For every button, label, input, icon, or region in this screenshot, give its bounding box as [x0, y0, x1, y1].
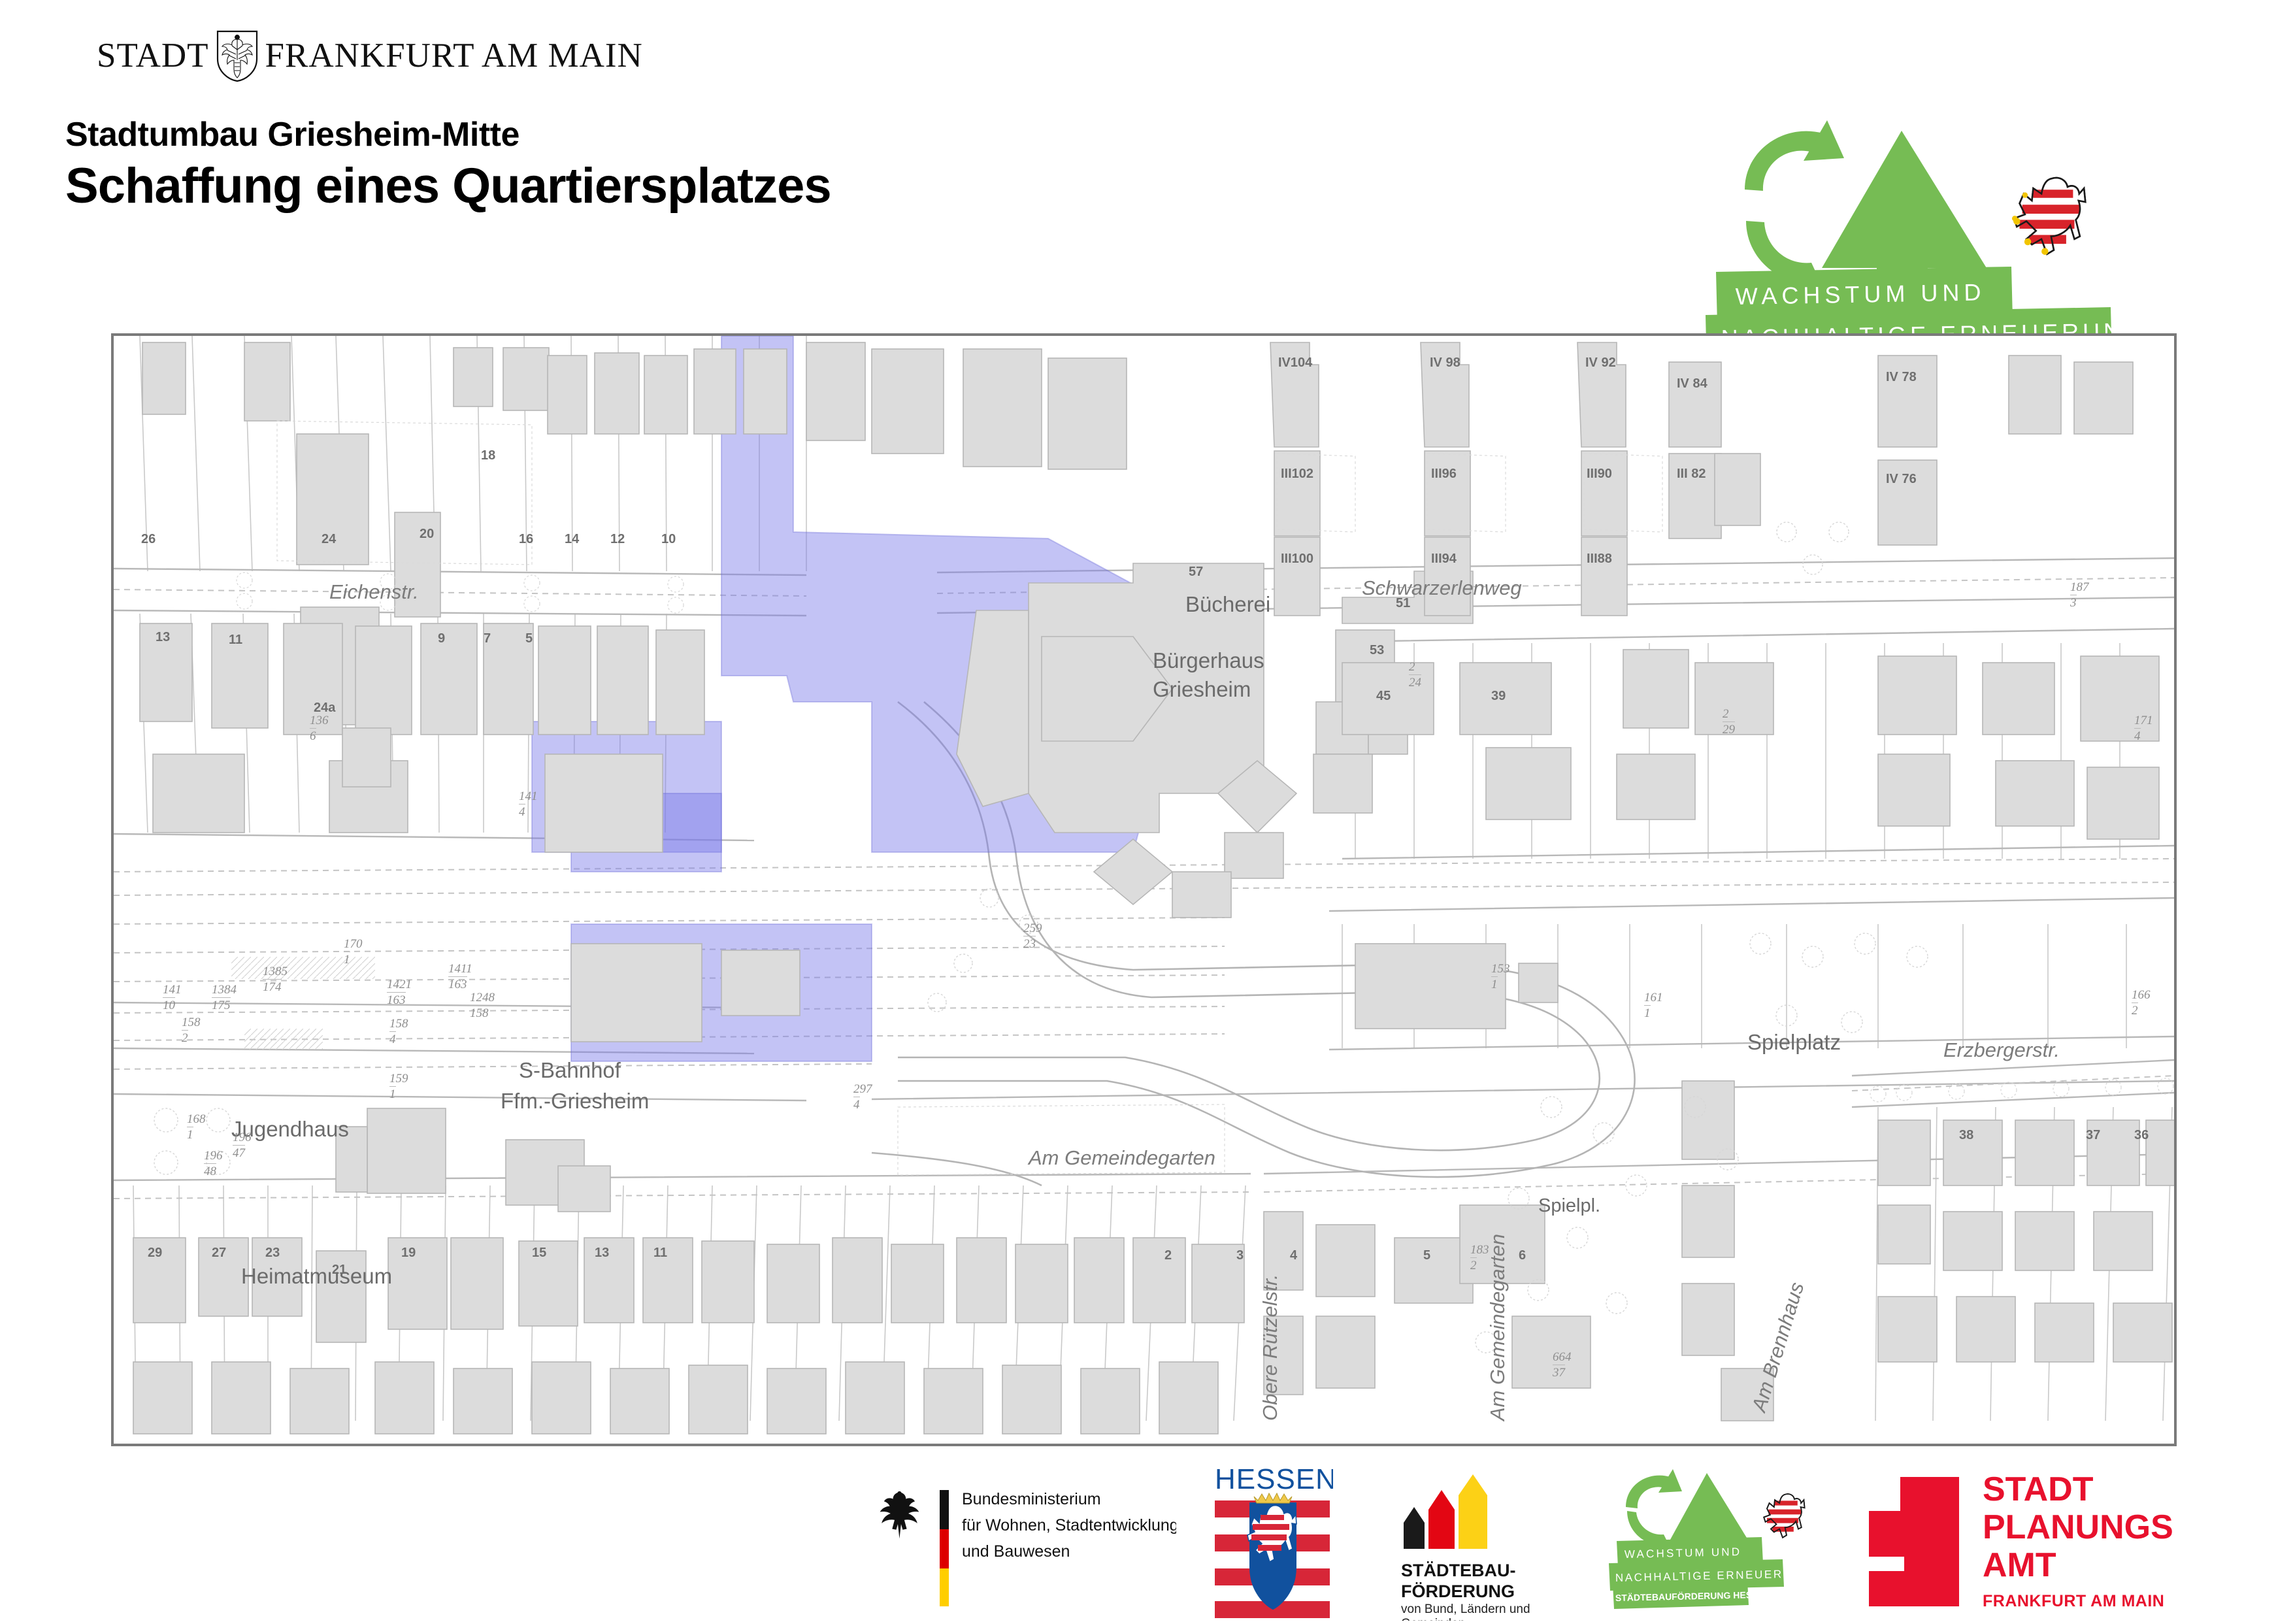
- parcel-denominator: 37: [1553, 1365, 1565, 1380]
- parcel-numerator: 297: [853, 1082, 872, 1096]
- hessen-wordmark: HESSEN: [1215, 1464, 1333, 1495]
- parcel-number: 297 4: [853, 1082, 872, 1112]
- parcel-numerator: 153: [1491, 962, 1510, 976]
- house-number: III102: [1281, 467, 1313, 482]
- parcel-number: 1385 174: [263, 965, 288, 995]
- parcel-numerator: 168: [187, 1112, 206, 1126]
- parcel-number: 1384 175: [212, 983, 237, 1013]
- bmwsb-line2: für Wohnen, Stadtentwicklung: [962, 1516, 1176, 1534]
- wachstum-footer-line1: WACHSTUM UND: [1625, 1546, 1742, 1561]
- parcel-denominator: 175: [212, 997, 231, 1013]
- house-number: 13: [595, 1246, 609, 1261]
- house-number: 16: [519, 532, 533, 547]
- house-number: IV104: [1278, 356, 1312, 371]
- house-number: III 82: [1677, 467, 1706, 482]
- parcel-numerator: 158: [389, 1017, 408, 1031]
- parcel-numerator: 1385: [263, 965, 288, 978]
- parcel-numerator: 170: [344, 937, 363, 951]
- hessen-shield-icon: [1247, 1493, 1296, 1609]
- parcel-number: 168 1: [187, 1112, 206, 1142]
- parcel-number: 170 1: [344, 937, 363, 967]
- parcel-denominator: 163: [387, 992, 406, 1008]
- bundesadler-icon: [880, 1491, 919, 1539]
- house-number: 24: [322, 532, 336, 547]
- cadastral-map[interactable]: Eichenstr. Schwarzerlenweg Erzbergerstr.…: [111, 333, 2177, 1446]
- house-number: 2: [1164, 1248, 1172, 1263]
- staedtebau-line2: FÖRDERUNG: [1401, 1582, 1515, 1601]
- german-flag-bar-icon: [940, 1490, 949, 1606]
- house-number: 21: [332, 1263, 346, 1278]
- staedtebaufoerderung-logo: STÄDTEBAU- FÖRDERUNG von Bund, Ländern u…: [1392, 1464, 1555, 1621]
- house-number: 23: [265, 1246, 280, 1261]
- house-number: 18: [481, 448, 495, 463]
- house-number: IV 78: [1886, 370, 1917, 385]
- project-subtitle: Stadtumbau Griesheim-Mitte: [65, 116, 831, 154]
- parcel-numerator: 141: [163, 983, 182, 997]
- house-number: 11: [229, 633, 242, 648]
- bmwsb-line1: Bundesministerium: [962, 1490, 1101, 1508]
- house-number: III96: [1431, 467, 1457, 482]
- parcel-denominator: 1: [344, 952, 350, 967]
- parcel-numerator: 166: [2132, 988, 2151, 1002]
- parcel-denominator: 47: [233, 1145, 245, 1161]
- parcel-denominator: 1: [1491, 976, 1498, 992]
- title-block: Stadtumbau Griesheim-Mitte Schaffung ein…: [65, 116, 831, 215]
- three-houses-icon: [1404, 1474, 1487, 1549]
- parcel-numerator: 1248: [470, 991, 495, 1004]
- parcel-denominator: 24: [1409, 674, 1421, 690]
- parcel-denominator: 174: [263, 979, 282, 995]
- parcel-number: 166 2: [2132, 988, 2151, 1018]
- house-number: 13: [156, 630, 170, 645]
- house-number: 29: [148, 1246, 162, 1261]
- house-number: IV 98: [1430, 356, 1460, 371]
- house-number: III88: [1587, 552, 1612, 567]
- spa-line3: AMT: [1983, 1546, 2056, 1584]
- parcel-denominator: 4: [853, 1097, 860, 1112]
- parcel-number: 153 1: [1491, 962, 1510, 992]
- hessen-lion-icon: [1764, 1494, 1804, 1538]
- house-number: 4: [1290, 1248, 1297, 1263]
- stadtplanungsamt-logo: STADT PLANUNGS AMT FRANKFURT AM MAIN: [1849, 1464, 2176, 1621]
- frankfurt-eagle-crest-icon: [216, 30, 259, 82]
- page-footer: Bundesministerium für Wohnen, Stadtentwi…: [0, 1464, 2293, 1621]
- parcel-denominator: 2: [1470, 1257, 1477, 1273]
- house-number: 20: [420, 527, 434, 542]
- map-vector-layer: [114, 336, 2174, 1444]
- house-number: 19: [401, 1246, 416, 1261]
- parcel-number: 141 10: [163, 983, 182, 1013]
- parcel-number: 158 4: [389, 1017, 408, 1047]
- house-number: 3: [1236, 1248, 1244, 1263]
- parcel-denominator: 29: [1723, 721, 1735, 737]
- parcel-numerator: 183: [1470, 1243, 1489, 1257]
- house-number: III100: [1281, 552, 1313, 567]
- parcel-number: 161 1: [1644, 991, 1663, 1021]
- house-number: 10: [661, 532, 676, 547]
- parcel-numerator: 161: [1644, 991, 1663, 1004]
- parcel-denominator: 1: [389, 1086, 396, 1102]
- city-logo-word-frankfurt: FRANKFURT AM MAIN: [265, 39, 643, 73]
- parcel-number: 2 29: [1723, 707, 1735, 737]
- parcel-numerator: 259: [1023, 921, 1042, 935]
- parcel-denominator: 4: [2134, 728, 2141, 744]
- house-number: 27: [212, 1246, 226, 1261]
- staedtebau-sub1: von Bund, Ländern und: [1401, 1602, 1530, 1616]
- parcel-number: 158 2: [182, 1016, 201, 1046]
- parcel-number: 183 2: [1470, 1243, 1489, 1273]
- page-title: Schaffung eines Quartiersplatzes: [65, 157, 831, 214]
- parcel-denominator: 48: [204, 1163, 216, 1179]
- parcel-numerator: 1384: [212, 983, 237, 997]
- house-number: 12: [610, 532, 625, 547]
- parcel-number: 141 4: [519, 789, 538, 820]
- house-number: IV 76: [1886, 472, 1917, 487]
- house-number: 15: [532, 1246, 546, 1261]
- house-number: 26: [141, 532, 156, 547]
- parcel-number: 171 4: [2134, 714, 2153, 744]
- house-number: 9: [438, 631, 445, 646]
- parcel-denominator: 23: [1023, 936, 1036, 952]
- city-logo-word-stadt: STADT: [97, 39, 209, 73]
- parcel-numerator: 664: [1553, 1350, 1572, 1364]
- parcel-numerator: 171: [2134, 714, 2153, 727]
- hessen-lion-icon: [2012, 178, 2085, 255]
- city-of-frankfurt-logo: STADT FRANKFURT AM MAIN: [97, 31, 515, 80]
- parcel-numerator: 159: [389, 1072, 408, 1085]
- house-number: 6: [1519, 1248, 1526, 1263]
- parcel-numerator: 2: [1409, 660, 1415, 674]
- house-number: IV 92: [1585, 356, 1616, 371]
- spa-line2: PLANUNGS: [1983, 1508, 2173, 1546]
- parcel-denominator: 6: [310, 728, 316, 744]
- parcel-number: 187 3: [2070, 580, 2089, 610]
- parcel-number: 196 48: [204, 1149, 223, 1179]
- staedtebau-line1: STÄDTEBAU-: [1401, 1561, 1516, 1580]
- parcel-number: 159 1: [389, 1072, 408, 1102]
- parcel-numerator: 187: [2070, 580, 2089, 594]
- parcel-number: 1421 163: [387, 978, 412, 1008]
- parcel-denominator: 10: [163, 997, 175, 1013]
- page-header: STADT FRANKFURT AM MAIN Stadtumbau Gries…: [0, 0, 2293, 327]
- hessen-state-logo: HESSEN: [1212, 1464, 1333, 1621]
- parcel-denominator: 163: [448, 976, 467, 992]
- parcel-number: 664 37: [1553, 1350, 1572, 1380]
- parcel-number: 1248 158: [470, 991, 495, 1021]
- parcel-denominator: 2: [2132, 1003, 2138, 1018]
- parcel-denominator: 2: [182, 1030, 188, 1046]
- parcel-denominator: 1: [1644, 1005, 1651, 1021]
- parcel-numerator: 1411: [448, 962, 472, 976]
- parcel-number: 2 24: [1409, 660, 1421, 690]
- parcel-numerator: 196: [204, 1149, 223, 1163]
- wachstum-footer-logo: WACHSTUM UND NACHHALTIGE ERNEUERUNG STÄD…: [1608, 1464, 1823, 1621]
- parcel-denominator: 1: [187, 1127, 193, 1142]
- house-number: 11: [653, 1246, 667, 1261]
- parcel-numerator: 141: [519, 789, 538, 803]
- spa-sub: FRANKFURT AM MAIN: [1983, 1592, 2164, 1610]
- parcel-numerator: 158: [182, 1016, 201, 1029]
- bmwsb-logo: Bundesministerium für Wohnen, Stadtentwi…: [869, 1464, 1176, 1621]
- spa-line1: STADT: [1983, 1470, 2094, 1508]
- house-number: 14: [565, 532, 579, 547]
- bmwsb-line3: und Bauwesen: [962, 1542, 1070, 1561]
- parcel-number: 136 6: [310, 714, 329, 744]
- parcel-number: 196 47: [233, 1131, 252, 1161]
- parcel-denominator: 3: [2070, 595, 2077, 610]
- house-number: 37: [2086, 1128, 2100, 1143]
- house-number: III90: [1587, 467, 1612, 482]
- house-number: 38: [1959, 1128, 1973, 1143]
- parcel-denominator: 4: [519, 804, 525, 820]
- parcel-numerator: 196: [233, 1131, 252, 1144]
- house-number: 7: [484, 631, 491, 646]
- parcel-numerator: 1421: [387, 978, 412, 991]
- house-number: 36: [2134, 1128, 2149, 1143]
- parcel-denominator: 158: [470, 1005, 489, 1021]
- badge-line1: WACHSTUM UND: [1735, 278, 1985, 310]
- house-number: IV 84: [1677, 376, 1707, 391]
- parcel-numerator: 136: [310, 714, 329, 727]
- parcel-denominator: 4: [389, 1031, 396, 1047]
- spa-block-mark-icon: [1869, 1477, 1959, 1606]
- house-number: 5: [525, 631, 533, 646]
- house-number: 5: [1423, 1248, 1430, 1263]
- house-number: III94: [1431, 552, 1457, 567]
- parcel-number: 1411 163: [448, 962, 472, 992]
- staedtebau-sub2: Gemeinden: [1401, 1617, 1465, 1621]
- parcel-number: 259 23: [1023, 921, 1042, 952]
- parcel-numerator: 2: [1723, 707, 1729, 721]
